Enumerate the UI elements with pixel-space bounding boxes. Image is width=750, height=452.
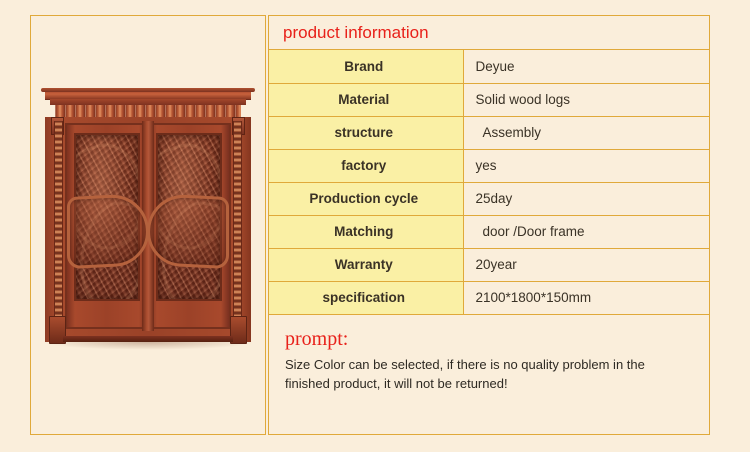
door-leaf-left <box>65 123 149 329</box>
wooden-door-image <box>31 16 265 434</box>
spec-value-factory: yes <box>463 149 709 182</box>
spec-label-production-cycle: Production cycle <box>269 182 463 215</box>
door-dentil-pattern <box>55 105 241 117</box>
spec-value-material: Solid wood logs <box>463 83 709 116</box>
product-detail-page: product information Brand Deyue Material… <box>0 0 750 452</box>
door-assembly <box>45 88 251 342</box>
spec-value-matching: door /Door frame <box>463 215 709 248</box>
table-row: factory yes <box>269 149 709 182</box>
product-image-panel <box>30 15 266 435</box>
door-bead-column-right <box>233 121 242 325</box>
specification-table: Brand Deyue Material Solid wood logs str… <box>269 50 709 315</box>
table-row: Brand Deyue <box>269 50 709 83</box>
door-floor-shadow <box>41 342 255 350</box>
door-leaf-right <box>147 123 231 329</box>
spec-label-warranty: Warranty <box>269 248 463 281</box>
spec-value-warranty: 20year <box>463 248 709 281</box>
carved-panel-right <box>156 133 222 301</box>
spec-label-structure: structure <box>269 116 463 149</box>
spec-label-specification: specification <box>269 281 463 314</box>
specification-table-body: Brand Deyue Material Solid wood logs str… <box>269 50 709 314</box>
spec-label-material: Material <box>269 83 463 116</box>
spec-value-brand: Deyue <box>463 50 709 83</box>
table-row: specification 2100*1800*150mm <box>269 281 709 314</box>
table-row: structure Assembly <box>269 116 709 149</box>
spec-value-production-cycle: 25day <box>463 182 709 215</box>
spec-label-brand: Brand <box>269 50 463 83</box>
door-centre-stile <box>142 121 154 331</box>
door-crown-moulding <box>45 88 251 99</box>
door-frame <box>45 117 251 342</box>
spec-value-structure: Assembly <box>463 116 709 149</box>
spec-label-matching: Matching <box>269 215 463 248</box>
product-information-panel: product information Brand Deyue Material… <box>268 15 710 435</box>
table-row: Production cycle 25day <box>269 182 709 215</box>
door-dentil-band <box>55 105 241 117</box>
prompt-text: Size Color can be selected, if there is … <box>285 355 677 393</box>
table-row: Warranty 20year <box>269 248 709 281</box>
table-row: Material Solid wood logs <box>269 83 709 116</box>
table-row: Matching door /Door frame <box>269 215 709 248</box>
door-bead-column-left <box>54 121 63 325</box>
spec-label-factory: factory <box>269 149 463 182</box>
prompt-section: prompt: Size Color can be selected, if t… <box>269 315 709 393</box>
product-information-title: product information <box>269 16 709 50</box>
spec-value-specification: 2100*1800*150mm <box>463 281 709 314</box>
prompt-title: prompt: <box>285 327 693 351</box>
carved-panel-left <box>74 133 140 301</box>
